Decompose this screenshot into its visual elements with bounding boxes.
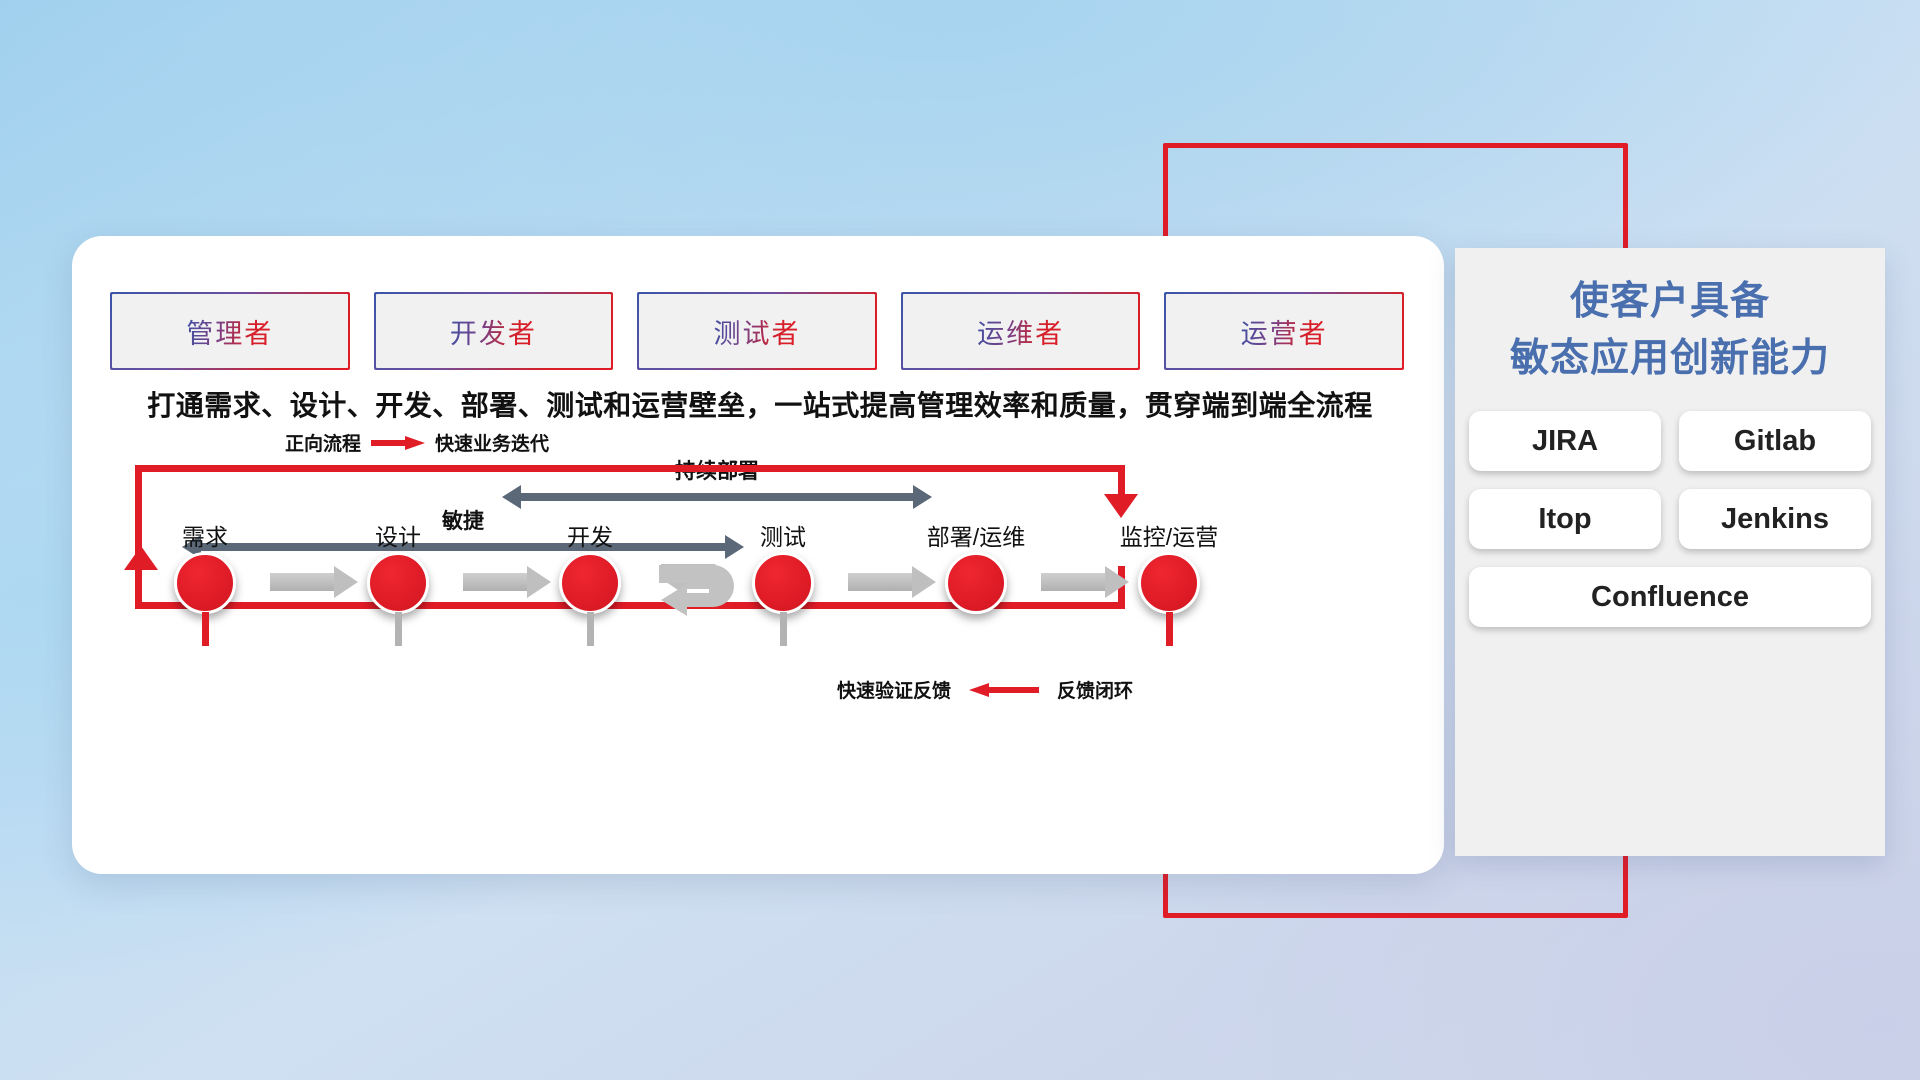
panel-heading-line-1: 使客户具备 [1455, 274, 1885, 331]
role-chip-label: 测试者 [713, 312, 800, 351]
pipeline-node-dot [174, 552, 236, 614]
pipeline-node-dot [752, 552, 814, 614]
tool-list: JIRA Gitlab Itop Jenkins Confluence [1469, 411, 1871, 627]
pipeline-node-dot [1138, 552, 1200, 614]
tool-button-gitlab[interactable]: Gitlab [1679, 411, 1871, 471]
role-chip-developer[interactable]: 开发者 [376, 294, 612, 368]
tool-button-jira[interactable]: JIRA [1469, 411, 1661, 471]
role-chip-label: 管理者 [186, 312, 273, 351]
arrow-shaft [519, 493, 915, 501]
node-stem-design [395, 612, 402, 646]
forward-flow-source-label: 正向流程 [285, 429, 361, 456]
pipeline-node-design[interactable]: 设计 [367, 552, 429, 614]
node-stem-requirement [202, 612, 209, 646]
pipeline-node-label: 监控/运营 [1120, 518, 1218, 552]
pipeline-arrow-2-icon [463, 566, 551, 598]
role-chip-label: 开发者 [450, 312, 537, 351]
role-chip-row: 管理者 开发者 测试者 运维者 运营者 [112, 294, 1402, 368]
feedback-result-label: 快速验证反馈 [837, 676, 951, 703]
role-chip-label: 运维者 [977, 312, 1064, 351]
feedback-loop-legend: 快速验证反馈 反馈闭环 [837, 676, 1133, 703]
panel-heading: 使客户具备 敏态应用创新能力 [1455, 274, 1885, 387]
panel-heading-line-2: 敏态应用创新能力 [1455, 331, 1885, 388]
pipeline-node-dot [367, 552, 429, 614]
role-chip-manager[interactable]: 管理者 [112, 294, 348, 368]
role-chip-label: 运营者 [1241, 312, 1328, 351]
pipeline-arrow-1-icon [270, 566, 358, 598]
value-proposition-panel: 使客户具备 敏态应用创新能力 JIRA Gitlab Itop Jenkins … [1455, 248, 1885, 856]
pipeline-node-label: 需求 [182, 518, 228, 552]
arrow-left-red-icon [969, 683, 1039, 696]
pipeline-node-dot [559, 552, 621, 614]
loop-arrow-icon [657, 558, 745, 618]
arrow-right-red-icon [371, 436, 425, 449]
node-stem-development [587, 612, 594, 646]
pipeline-arrow-4-icon [1041, 566, 1129, 598]
pipeline-node-label: 设计 [375, 518, 421, 552]
pipeline-arrow-3-icon [848, 566, 936, 598]
pipeline-node-monitor-operate[interactable]: 监控/运营 [1138, 552, 1200, 614]
pipeline-node-requirement[interactable]: 需求 [174, 552, 236, 614]
tool-button-jenkins[interactable]: Jenkins [1679, 489, 1871, 549]
pipeline-node-label: 测试 [760, 518, 806, 552]
role-chip-tester[interactable]: 测试者 [639, 294, 875, 368]
pipeline-node-label: 开发 [567, 518, 613, 552]
pipeline-flow: 需求 设计 开发 [102, 504, 1422, 634]
pipeline-node-testing[interactable]: 测试 [752, 552, 814, 614]
main-card: 管理者 开发者 测试者 运维者 运营者 打通需求、设计、开发、部署、测试和运营壁… [72, 236, 1444, 874]
role-chip-operator[interactable]: 运营者 [1166, 294, 1402, 368]
forward-flow-legend: 正向流程 快速业务迭代 [285, 429, 549, 456]
pipeline-node-dot [945, 552, 1007, 614]
feedback-source-label: 反馈闭环 [1057, 676, 1133, 703]
pipeline-node-label: 部署/运维 [927, 518, 1025, 552]
forward-flow-target-label: 快速业务迭代 [435, 429, 549, 456]
role-chip-ops[interactable]: 运维者 [903, 294, 1139, 368]
tool-button-confluence[interactable]: Confluence [1469, 567, 1871, 627]
node-stem-monitor [1166, 612, 1173, 646]
pipeline-node-development[interactable]: 开发 [559, 552, 621, 614]
node-stem-testing [780, 612, 787, 646]
pipeline-node-deploy-ops[interactable]: 部署/运维 [945, 552, 1007, 614]
tool-button-itop[interactable]: Itop [1469, 489, 1661, 549]
feedback-rail-top [135, 465, 1125, 472]
headline-text: 打通需求、设计、开发、部署、测试和运营壁垒，一站式提高管理效率和质量，贯穿端到端… [110, 384, 1410, 424]
